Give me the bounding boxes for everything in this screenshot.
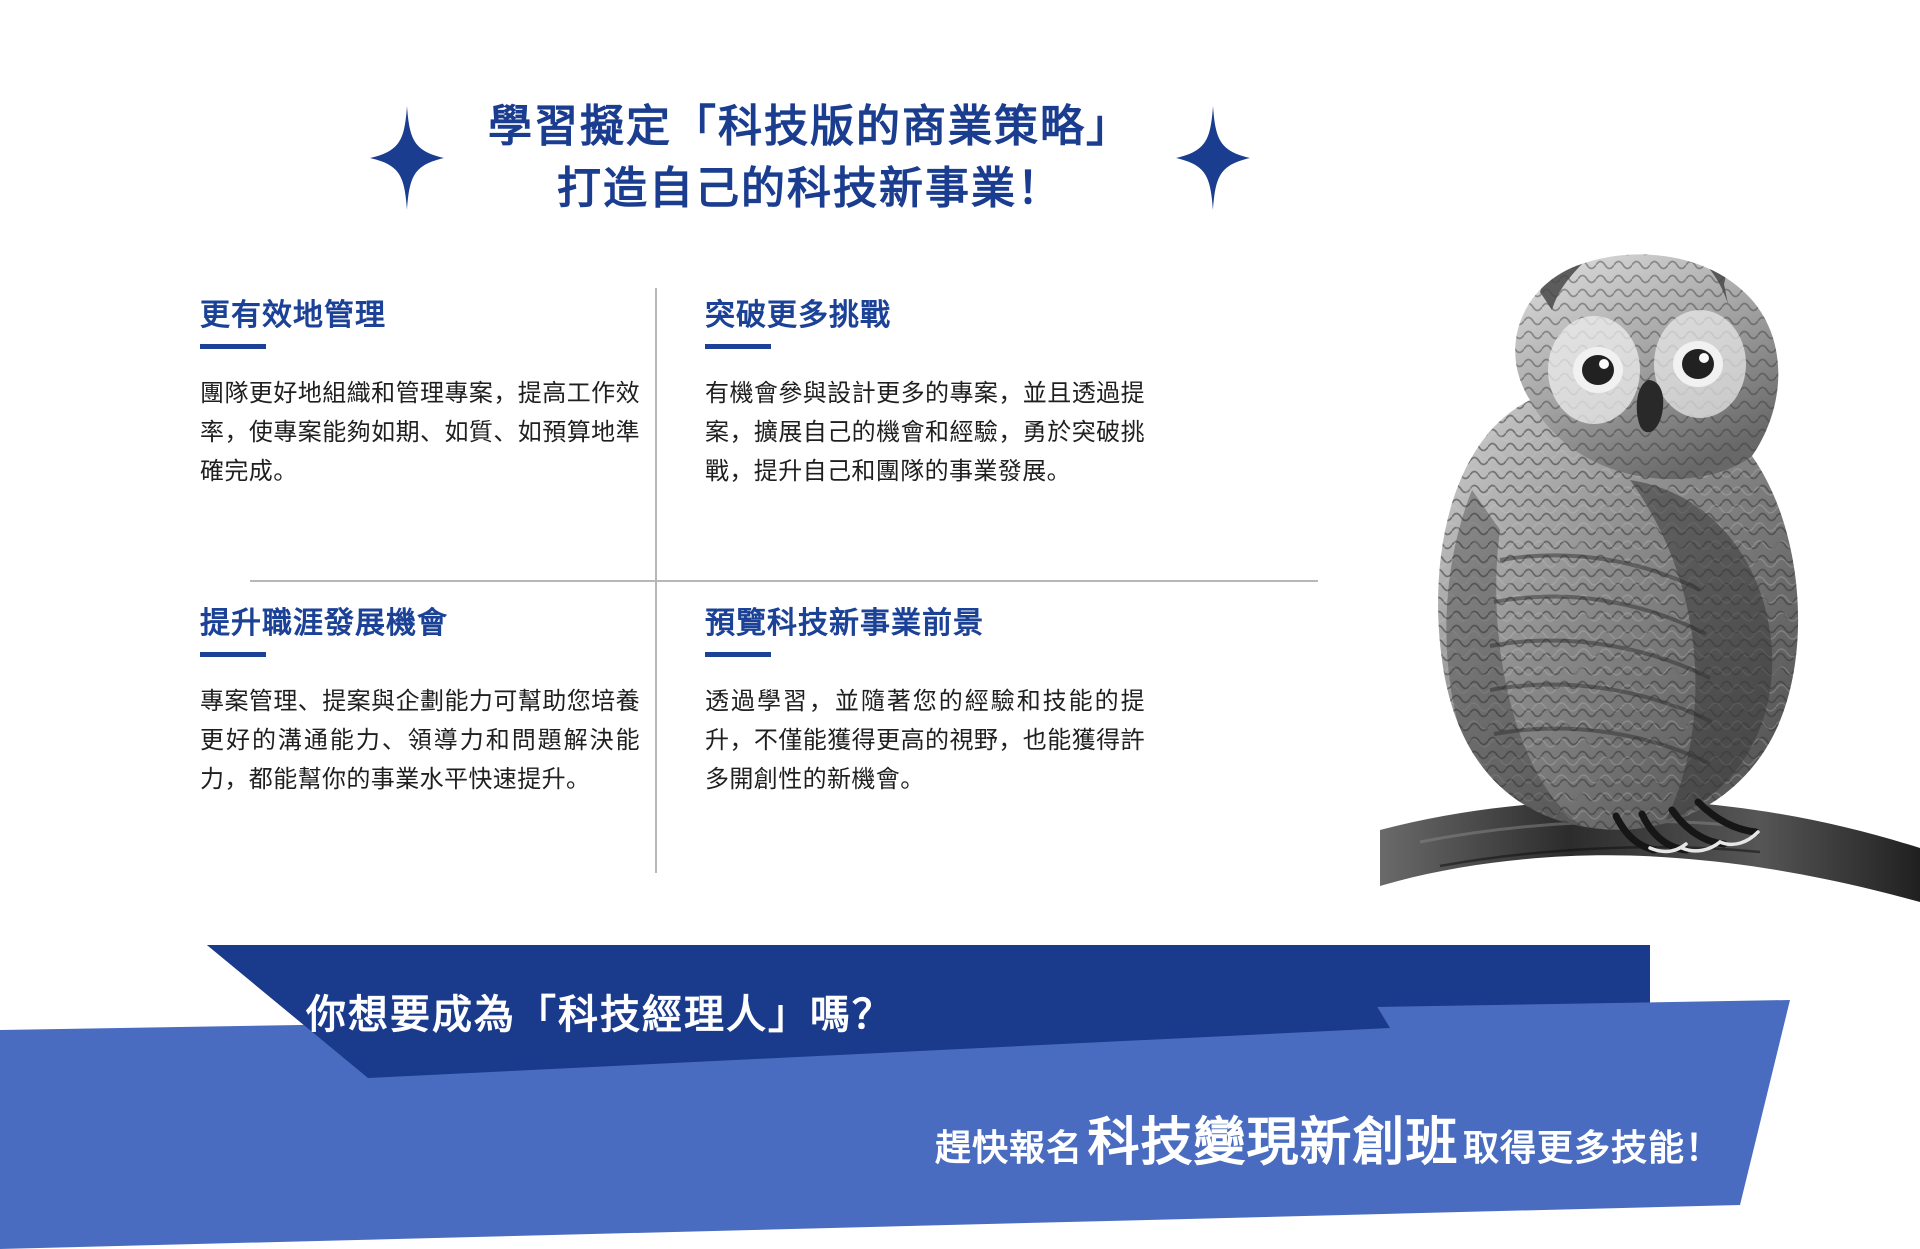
headline-block: 學習擬定「科技版的商業策略」 打造自己的科技新事業！ — [0, 96, 1620, 221]
benefit-card-3-body: 專案管理、提案與企劃能力可幫助您培養更好的溝通能力、領導力和問題解決能力，都能幫… — [200, 683, 640, 800]
benefit-card-1-body: 團隊更好地組織和管理專案，提高工作效率，使專案能夠如期、如質、如預算地準確完成。 — [200, 375, 640, 492]
title-underline — [200, 344, 266, 349]
benefit-card-2-title: 突破更多挑戰 — [705, 298, 1145, 334]
benefit-card-2-body: 有機會參與設計更多的專案，並且透過提案，擴展自己的機會和經驗，勇於突破挑戰，提升… — [705, 375, 1145, 492]
cta-question-text: 你想要成為「科技經理人」嗎？ — [306, 993, 894, 1037]
benefit-card-4-body: 透過學習，並隨著您的經驗和技能的提升，不僅能獲得更高的視野，也能獲得許多開創性的… — [705, 683, 1145, 800]
headline-line-1: 學習擬定「科技版的商業策略」 — [488, 96, 1132, 158]
headline-line-2: 打造自己的科技新事業！ — [488, 158, 1132, 220]
benefit-card-4-title: 預覽科技新事業前景 — [705, 606, 1145, 642]
benefit-card-1-title: 更有效地管理 — [200, 298, 640, 334]
benefit-card-3: 提升職涯發展機會 專案管理、提案與企劃能力可幫助您培養更好的溝通能力、領導力和問… — [200, 606, 640, 800]
title-underline — [705, 652, 771, 657]
horizontal-divider — [250, 580, 1318, 582]
sparkle-star-icon — [370, 106, 444, 210]
benefits-grid: 更有效地管理 團隊更好地組織和管理專案，提高工作效率，使專案能夠如期、如質、如預… — [200, 288, 1320, 873]
benefit-card-2: 突破更多挑戰 有機會參與設計更多的專案，並且透過提案，擴展自己的機會和經驗，勇於… — [705, 298, 1145, 492]
cta-signup-suffix: 取得更多技能！ — [1463, 1127, 1722, 1168]
title-underline — [200, 652, 266, 657]
benefit-card-1: 更有效地管理 團隊更好地組織和管理專案，提高工作效率，使專案能夠如期、如質、如預… — [200, 298, 640, 492]
sparkle-star-icon — [1176, 106, 1250, 210]
cta-question: 你想要成為「科技經理人」嗎？ — [0, 982, 1200, 1040]
cta-course-name: 科技變現新創班 — [1088, 1114, 1459, 1172]
benefit-card-3-title: 提升職涯發展機會 — [200, 606, 640, 642]
owl-photo — [1380, 230, 1920, 920]
benefit-card-4: 預覽科技新事業前景 透過學習，並隨著您的經驗和技能的提升，不僅能獲得更高的視野，… — [705, 606, 1145, 800]
page-title: 學習擬定「科技版的商業策略」 打造自己的科技新事業！ — [444, 96, 1176, 221]
title-underline — [705, 344, 771, 349]
cta-signup-prefix: 趕快報名 — [935, 1127, 1083, 1168]
cta-signup[interactable]: 趕快報名 科技變現新創班 取得更多技能！ — [0, 1100, 1770, 1175]
poster-canvas: 學習擬定「科技版的商業策略」 打造自己的科技新事業！ 更有效地管理 團隊更好地組… — [0, 0, 1920, 1249]
